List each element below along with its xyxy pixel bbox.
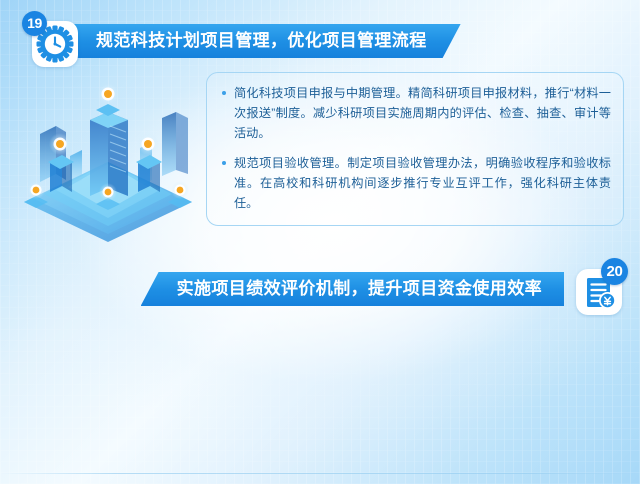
document-money-icon-group: 20 bbox=[570, 264, 622, 316]
section-19-bullet-list: 简化科技项目申报与中期管理。精简科研项目申报材料，推行“材料一次报送”制度。减少… bbox=[221, 83, 611, 213]
section-20: 实施项目绩效评价机制，提升项目资金使用效率 bbox=[0, 248, 640, 484]
section-20-header: 实施项目绩效评价机制，提升项目资金使用效率 bbox=[18, 256, 622, 312]
section-19-content-panel: 简化科技项目申报与中期管理。精简科研项目申报材料，推行“材料一次报送”制度。减少… bbox=[206, 72, 624, 226]
section-number-badge-19: 19 bbox=[22, 11, 47, 36]
city-node-pillar-left bbox=[48, 133, 74, 192]
city-node-pillar-right bbox=[136, 133, 162, 192]
section-19: 19 规范科技计划项目管理，优化项目管理流程 bbox=[0, 0, 640, 252]
bottom-divider bbox=[0, 473, 640, 474]
section-20-title: 实施项目绩效评价机制，提升项目资金使用效率 bbox=[141, 272, 564, 306]
city-node-top bbox=[96, 83, 120, 116]
gear-clock-icon-group: 19 bbox=[26, 16, 78, 68]
list-item: 规范项目验收管理。制定项目验收管理办法，明确验收程序和验收标准。在高校和科研机构… bbox=[221, 153, 611, 213]
isometric-smart-city-illustration bbox=[12, 74, 204, 246]
list-item: 简化科技项目申报与中期管理。精简科研项目申报材料，推行“材料一次报送”制度。减少… bbox=[221, 83, 611, 143]
section-number-badge-20: 20 bbox=[601, 258, 628, 285]
infographic-page: 19 规范科技计划项目管理，优化项目管理流程 bbox=[0, 0, 640, 484]
section-19-header: 19 规范科技计划项目管理，优化项目管理流程 bbox=[18, 8, 622, 64]
section-19-title: 规范科技计划项目管理，优化项目管理流程 bbox=[74, 24, 461, 58]
